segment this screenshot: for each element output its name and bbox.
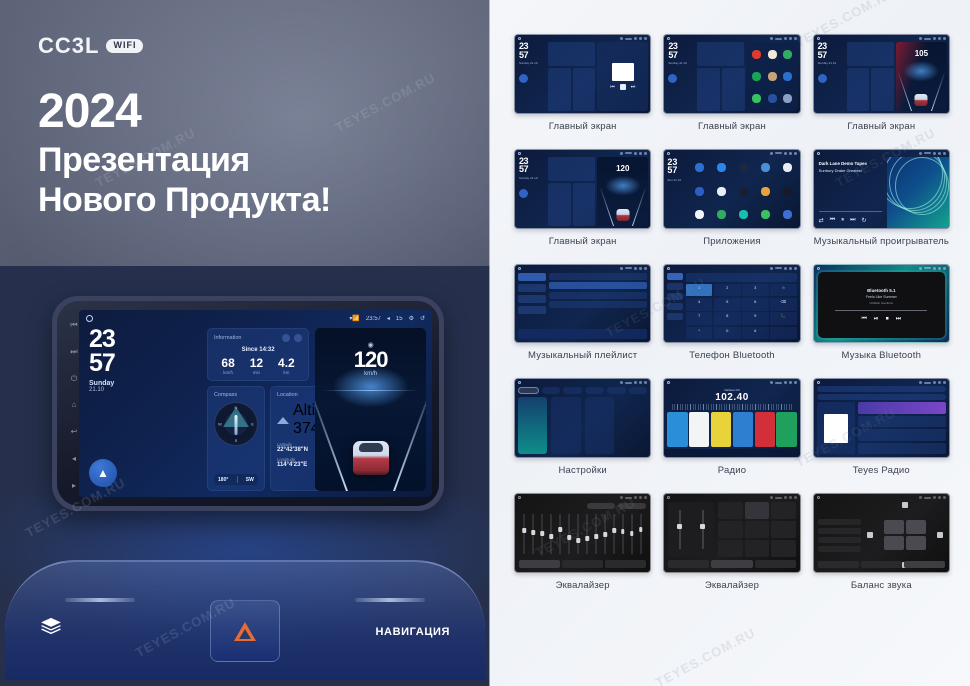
gallery-caption: Музыкальный плейлист <box>528 350 637 372</box>
screenshot-equalizer-panel[interactable] <box>663 493 800 573</box>
btn-next-icon[interactable]: ⏭ <box>70 347 79 356</box>
balance-pad[interactable] <box>865 502 945 568</box>
clock-minutes: 57 <box>89 352 201 376</box>
preset-button[interactable] <box>587 503 615 509</box>
drive-view[interactable]: ◉ 120 km/h <box>315 328 426 491</box>
balance-presets[interactable] <box>818 502 861 568</box>
stat-time-unit: min <box>250 370 263 375</box>
horizon-line <box>322 390 419 392</box>
gallery-item[interactable]: 1 2 3 ☆ 4 5 6 ⌫ 7 8 9 📞 <box>663 264 800 373</box>
gallery-caption: Музыка Bluetooth <box>842 350 922 372</box>
compass-needle <box>234 415 237 435</box>
navigation-label: НАВИГАЦИЯ <box>376 626 450 638</box>
key-hash[interactable]: # <box>742 327 769 340</box>
play-pause-icon[interactable]: ⏯ <box>874 316 879 323</box>
station-list[interactable] <box>858 402 946 454</box>
refresh-icon[interactable] <box>282 334 290 342</box>
gallery-caption: Настройки <box>558 465 606 487</box>
screenshot-apps[interactable]: 2357Sun 21.10 <box>663 149 800 229</box>
album-art <box>817 402 856 454</box>
gallery-item[interactable]: 2357Sun 21.10 Приложения <box>663 149 800 258</box>
gallery-caption: Главный экран <box>698 121 766 143</box>
speed-unit: km/h <box>315 371 426 377</box>
bt-track-title: Feels Like Summer <box>866 295 897 299</box>
bt-track-artist: Childish Gambino <box>869 301 893 305</box>
hazard-button[interactable] <box>210 600 280 662</box>
btn-back-icon[interactable]: ↩ <box>70 427 79 436</box>
clock-weekday: Sunday <box>89 380 201 387</box>
sound-effect-buttons[interactable] <box>718 502 796 557</box>
screenshot-home-drive-2[interactable]: 2357Sunday 21.10 120 <box>514 149 651 229</box>
compass-dial: N S W E <box>214 402 258 446</box>
radio-toolbar[interactable] <box>664 449 799 457</box>
hero-headline: 2024 Презентация Нового Продукта! <box>38 88 331 220</box>
eq-tabs[interactable] <box>668 560 795 568</box>
home-icon <box>518 37 521 40</box>
gallery-caption: Телефон Bluetooth <box>689 350 775 372</box>
brand-model: CC3L <box>38 33 99 59</box>
key-5[interactable]: 5 <box>714 298 741 311</box>
screenshot-teyes-radio[interactable] <box>813 378 950 458</box>
balance-right-icon[interactable] <box>937 532 943 538</box>
hero-year: 2024 <box>38 88 331 136</box>
compass-card[interactable]: Compass N S W E <box>207 386 265 491</box>
screenshot-home-apps[interactable]: 2357Sunday 21.10 <box>663 34 800 114</box>
btn-volup-icon[interactable]: ▸ <box>70 481 79 490</box>
divider <box>237 476 238 483</box>
screenshot-sound-balance[interactable] <box>813 493 950 573</box>
speed-value: 120 <box>597 164 648 173</box>
stat-speed-unit: km/h <box>221 370 234 375</box>
btn-prev-icon[interactable]: ⏮ <box>70 320 79 329</box>
drive-view: 105 <box>896 42 947 111</box>
clock-date: 21.10 <box>89 387 201 393</box>
volume-level: 15 <box>396 316 403 322</box>
eq-band-sliders[interactable] <box>519 509 646 560</box>
screenshot-equalizer[interactable] <box>514 493 651 573</box>
dashboard-vent <box>5 560 485 680</box>
station-presets[interactable] <box>664 410 799 449</box>
screens-gallery-panel: 2357Sunday 21.10 ⏮⏭ Главный экран 2357S <box>490 0 970 686</box>
seek-bar[interactable] <box>835 310 927 311</box>
gallery-caption: Главный экран <box>549 236 617 258</box>
call-icon[interactable]: 📞 <box>770 312 797 325</box>
back-icon[interactable]: ↺ <box>420 315 425 322</box>
btn-power-icon[interactable]: ⏻ <box>70 374 79 383</box>
home-icon[interactable] <box>86 315 93 322</box>
teyes-tabs[interactable] <box>817 386 946 392</box>
drive-view: 120 <box>597 157 648 226</box>
gallery-caption: Главный экран <box>847 121 915 143</box>
stop-icon[interactable]: ⏹ <box>886 316 889 323</box>
stat-distance-value: 4.2 <box>278 357 295 369</box>
eq-tabs[interactable] <box>519 560 646 568</box>
balance-up-icon[interactable] <box>902 502 908 508</box>
gear-icon[interactable]: ⚙ <box>409 315 414 322</box>
reset-button[interactable] <box>618 503 646 509</box>
wifi-icon: ▾📶 <box>349 315 359 322</box>
compass-title: Compass <box>214 392 258 398</box>
teyes-filters[interactable] <box>817 394 946 400</box>
widgets-column: Information Since 14:32 68 km/h <box>207 328 309 491</box>
stat-distance: 4.2 km <box>278 357 295 375</box>
layers-icon[interactable] <box>40 617 62 640</box>
screenshot-home-media[interactable]: 2357Sunday 21.10 ⏮⏭ <box>514 34 651 114</box>
stat-distance-unit: km <box>278 370 295 375</box>
trip-stats: 68 km/h 12 min 4.2 <box>214 357 302 375</box>
radio-frequency: 102.40 <box>664 392 799 403</box>
key-star[interactable]: * <box>686 327 713 340</box>
gallery-caption: Эквалайзер <box>556 580 610 602</box>
screenshot-home-drive[interactable]: 2357Sunday 21.10 105 <box>813 34 950 114</box>
gallery-caption: Эквалайзер <box>705 580 759 602</box>
information-title: Information <box>214 335 242 341</box>
gallery-item[interactable]: Teyes Радио <box>813 378 950 487</box>
gallery-caption: Teyes Радио <box>853 465 910 487</box>
car-graphic <box>353 441 389 475</box>
dialpad[interactable]: 1 2 3 ☆ 4 5 6 ⌫ 7 8 9 📞 <box>686 284 797 340</box>
hero-panel: CC3L WIFI 2024 Презентация Нового Продук… <box>0 0 490 686</box>
visualizer <box>887 157 949 228</box>
phone-number-input[interactable] <box>686 273 797 282</box>
car-dashboard-photo: ⏮ ⏭ ⏻ ⌂ ↩ ◂ ▸ ▾📶 23:57 <box>0 266 490 686</box>
repeat-icon[interactable]: ↻ <box>862 217 867 224</box>
watermark: TEYES.COM.RU <box>333 70 438 135</box>
app-grid <box>691 158 797 225</box>
settings-tabs[interactable] <box>518 387 647 394</box>
next-icon[interactable]: ⏭ <box>850 217 855 224</box>
watermark: TEYES.COM.RU <box>653 625 758 686</box>
hotspot-card[interactable] <box>551 397 580 454</box>
key-4[interactable]: 4 <box>686 298 713 311</box>
status-time: 23:57 <box>366 316 381 322</box>
information-since: Since 14:32 <box>214 347 302 353</box>
hero-line-1: Презентация <box>38 140 331 180</box>
key-0[interactable]: 0 <box>714 327 741 340</box>
information-card[interactable]: Information Since 14:32 68 km/h <box>207 328 309 381</box>
head-unit-frame: ⏮ ⏭ ⏻ ⌂ ↩ ◂ ▸ ▾📶 23:57 <box>57 301 439 506</box>
gallery-caption: Баланс звука <box>851 580 912 602</box>
gallery-caption: Радио <box>718 465 746 487</box>
presentation-slide: CC3L WIFI 2024 Презентация Нового Продук… <box>0 0 970 686</box>
wifi-card[interactable] <box>518 397 547 454</box>
vent-slat-right <box>355 598 425 602</box>
vent-slat-left <box>65 598 135 602</box>
screens-grid: 2357Sunday 21.10 ⏮⏭ Главный экран 2357S <box>514 34 950 602</box>
gallery-item[interactable]: Баланс звука <box>813 493 950 602</box>
key-8[interactable]: 8 <box>714 312 741 325</box>
clock-widget: 23 57 Sunday 21.10 ▲ <box>85 328 201 491</box>
compass-heading: 180° <box>218 477 228 483</box>
more-card[interactable] <box>585 397 614 454</box>
compass-north: N <box>234 405 237 410</box>
phone-tabs[interactable] <box>667 273 683 340</box>
head-unit-bezel: ⏮ ⏭ ⏻ ⌂ ↩ ◂ ▸ ▾📶 23:57 <box>52 296 444 511</box>
balance-left-icon[interactable] <box>867 532 873 538</box>
speed-readout: ◉ 120 km/h <box>315 341 426 377</box>
volume-icon[interactable]: ◂ <box>387 315 390 322</box>
key-6[interactable]: 6 <box>742 298 769 311</box>
pause-icon[interactable]: ⏸ <box>841 217 844 224</box>
speed-icon: ◉ <box>315 341 426 349</box>
brand-logo: CC3L WIFI <box>38 33 143 59</box>
bluetooth-version: Bluetooth 5.1 <box>867 288 896 293</box>
home-screen: 23 57 Sunday 21.10 ▲ Infor <box>85 328 426 491</box>
compass-west: W <box>218 422 222 427</box>
backspace-icon[interactable]: ⌫ <box>770 298 797 311</box>
favorite-icon[interactable]: ☆ <box>770 284 797 297</box>
screenshot-radio[interactable]: Майами FM 102.40 <box>663 378 800 458</box>
fader-sliders[interactable] <box>668 502 714 557</box>
gallery-item[interactable]: Настройки <box>514 378 651 487</box>
screenshot-music-player[interactable]: Dark Lane Demo Tapes Sunbury Drake Great… <box>813 149 950 229</box>
key-7[interactable]: 7 <box>686 312 713 325</box>
screenshot-playlist[interactable] <box>514 264 651 344</box>
compass-south: S <box>235 438 238 443</box>
shuffle-icon[interactable]: ⇄ <box>819 217 824 224</box>
key-3[interactable]: 3 <box>742 284 769 297</box>
gallery-item[interactable]: 2357Sunday 21.10 Главный экран <box>663 34 800 143</box>
eq-tabs[interactable] <box>818 561 945 568</box>
hazard-triangle-icon <box>234 622 256 641</box>
mountain-icon <box>277 417 289 424</box>
prev-icon[interactable]: ⏮ <box>862 316 867 323</box>
gallery-item[interactable]: Эквалайзер <box>514 493 651 602</box>
gallery-item[interactable]: 2357Sunday 21.10 105 Главный экран <box>813 34 950 143</box>
gallery-item[interactable]: Bluetooth 5.1 Feels Like Summer Childish… <box>813 264 950 373</box>
screenshot-settings[interactable] <box>514 378 651 458</box>
wifi-badge: WIFI <box>106 39 143 53</box>
hero-line-2: Нового Продукта! <box>38 180 331 220</box>
head-unit-screen[interactable]: ▾📶 23:57 ◂ 15 ⚙ ↺ 23 57 <box>79 310 432 497</box>
speed-value: 120 <box>315 349 426 371</box>
stat-time: 12 min <box>250 357 263 375</box>
album-art <box>612 63 634 81</box>
media-widget: ⏮⏭ <box>597 42 648 111</box>
screenshot-bluetooth-phone[interactable]: 1 2 3 ☆ 4 5 6 ⌫ 7 8 9 📞 <box>663 264 800 344</box>
track-artist: Sunbury Drake Greatest <box>819 168 882 173</box>
stat-speed-value: 68 <box>221 357 234 369</box>
gallery-item[interactable]: Dark Lane Demo Tapes Sunbury Drake Great… <box>813 149 950 258</box>
key-1[interactable]: 1 <box>686 284 713 297</box>
key-blank <box>770 327 797 340</box>
gallery-item[interactable]: 2357Sunday 21.10 120 Главный экран <box>514 149 651 258</box>
status-bar: ▾📶 23:57 ◂ 15 ⚙ ↺ <box>79 310 432 327</box>
screenshot-bluetooth-music[interactable]: Bluetooth 5.1 Feels Like Summer Childish… <box>813 264 950 344</box>
key-2[interactable]: 2 <box>714 284 741 297</box>
compass-east: E <box>251 422 254 427</box>
gallery-item[interactable]: Майами FM 102.40 Радио <box>663 378 800 487</box>
compass-direction: SW <box>246 477 254 483</box>
stat-time-value: 12 <box>250 357 263 369</box>
now-playing-bar[interactable] <box>518 329 647 339</box>
gallery-caption: Приложения <box>703 236 761 258</box>
settings-cards[interactable] <box>518 397 647 454</box>
track-title: Dark Lane Demo Tapes <box>819 161 882 166</box>
speed-value: 105 <box>896 49 947 58</box>
gallery-item[interactable]: 2357Sunday 21.10 ⏮⏭ Главный экран <box>514 34 651 143</box>
progress-bar[interactable] <box>819 211 882 212</box>
navigation-arrow-icon[interactable]: ▲ <box>89 459 117 487</box>
key-9[interactable]: 9 <box>742 312 769 325</box>
gallery-item[interactable]: Музыкальный плейлист <box>514 264 651 373</box>
btn-home-icon[interactable]: ⌂ <box>70 400 79 409</box>
gallery-caption: Музыкальный проигрыватель <box>814 236 949 258</box>
prev-icon[interactable]: ⏮ <box>830 217 835 224</box>
gallery-item[interactable]: Эквалайзер <box>663 493 800 602</box>
btn-voldown-icon[interactable]: ◂ <box>70 454 79 463</box>
stat-speed: 68 km/h <box>221 357 234 375</box>
next-icon[interactable]: ⏭ <box>896 316 901 323</box>
app-shortcuts <box>746 42 797 111</box>
clock-hours: 23 <box>89 328 201 352</box>
gallery-caption: Главный экран <box>549 121 617 143</box>
navigation-arrow-icon <box>519 74 528 83</box>
expand-icon[interactable] <box>294 334 302 342</box>
